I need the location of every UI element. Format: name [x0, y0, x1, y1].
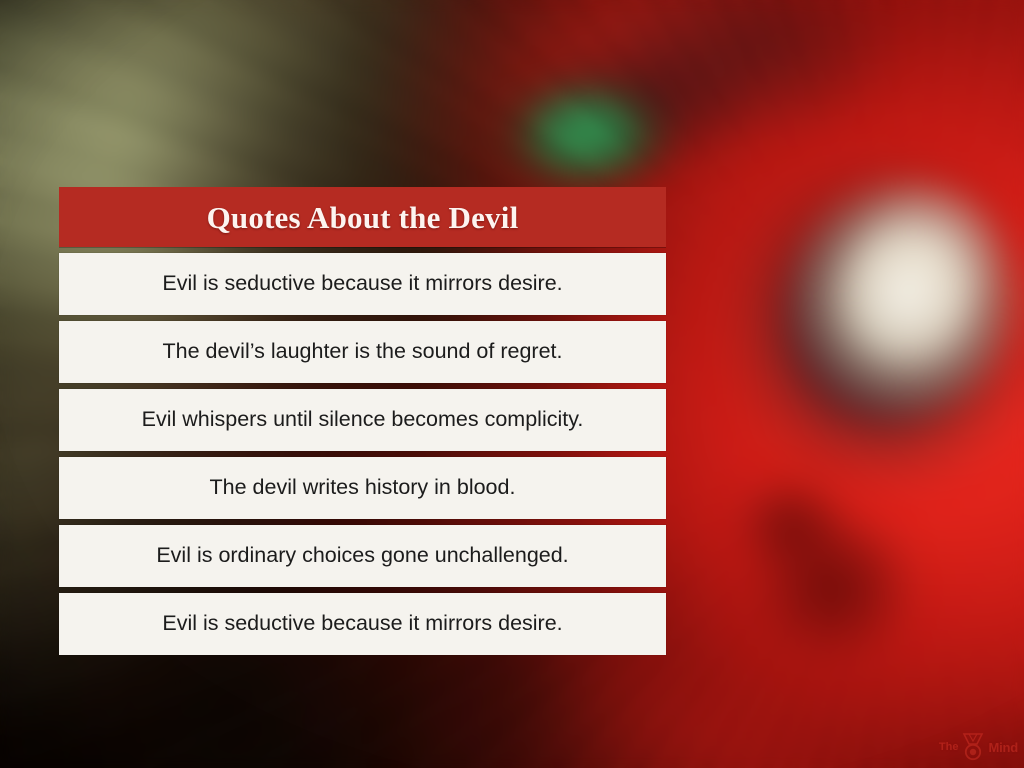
- quote-card: Evil is ordinary choices gone unchalleng…: [59, 525, 666, 587]
- quote-card: Evil is seductive because it mirrors des…: [59, 253, 666, 315]
- quote-card: Evil whispers until silence becomes comp…: [59, 389, 666, 451]
- quote-text: Evil whispers until silence becomes comp…: [128, 407, 598, 433]
- medal-badge-icon: [960, 732, 986, 762]
- quote-text: The devil writes history in blood.: [196, 475, 530, 501]
- title-banner: Quotes About the Devil: [59, 187, 666, 247]
- quote-text: Evil is ordinary choices gone unchalleng…: [142, 543, 582, 569]
- quote-text: The devil’s laughter is the sound of reg…: [149, 339, 577, 365]
- quote-card: Evil is seductive because it mirrors des…: [59, 593, 666, 655]
- quote-panel: Quotes About the Devil Evil is seductive…: [59, 187, 666, 655]
- quote-card: The devil writes history in blood.: [59, 457, 666, 519]
- page-title: Quotes About the Devil: [207, 202, 519, 233]
- watermark-text-left: The: [939, 742, 959, 753]
- watermark[interactable]: The Mind: [939, 732, 1018, 762]
- quote-card: The devil’s laughter is the sound of reg…: [59, 321, 666, 383]
- quote-text: Evil is seductive because it mirrors des…: [148, 271, 576, 297]
- quote-text: Evil is seductive because it mirrors des…: [148, 611, 576, 637]
- slide-canvas: Quotes About the Devil Evil is seductive…: [0, 0, 1024, 768]
- watermark-text-right: Mind: [988, 741, 1018, 754]
